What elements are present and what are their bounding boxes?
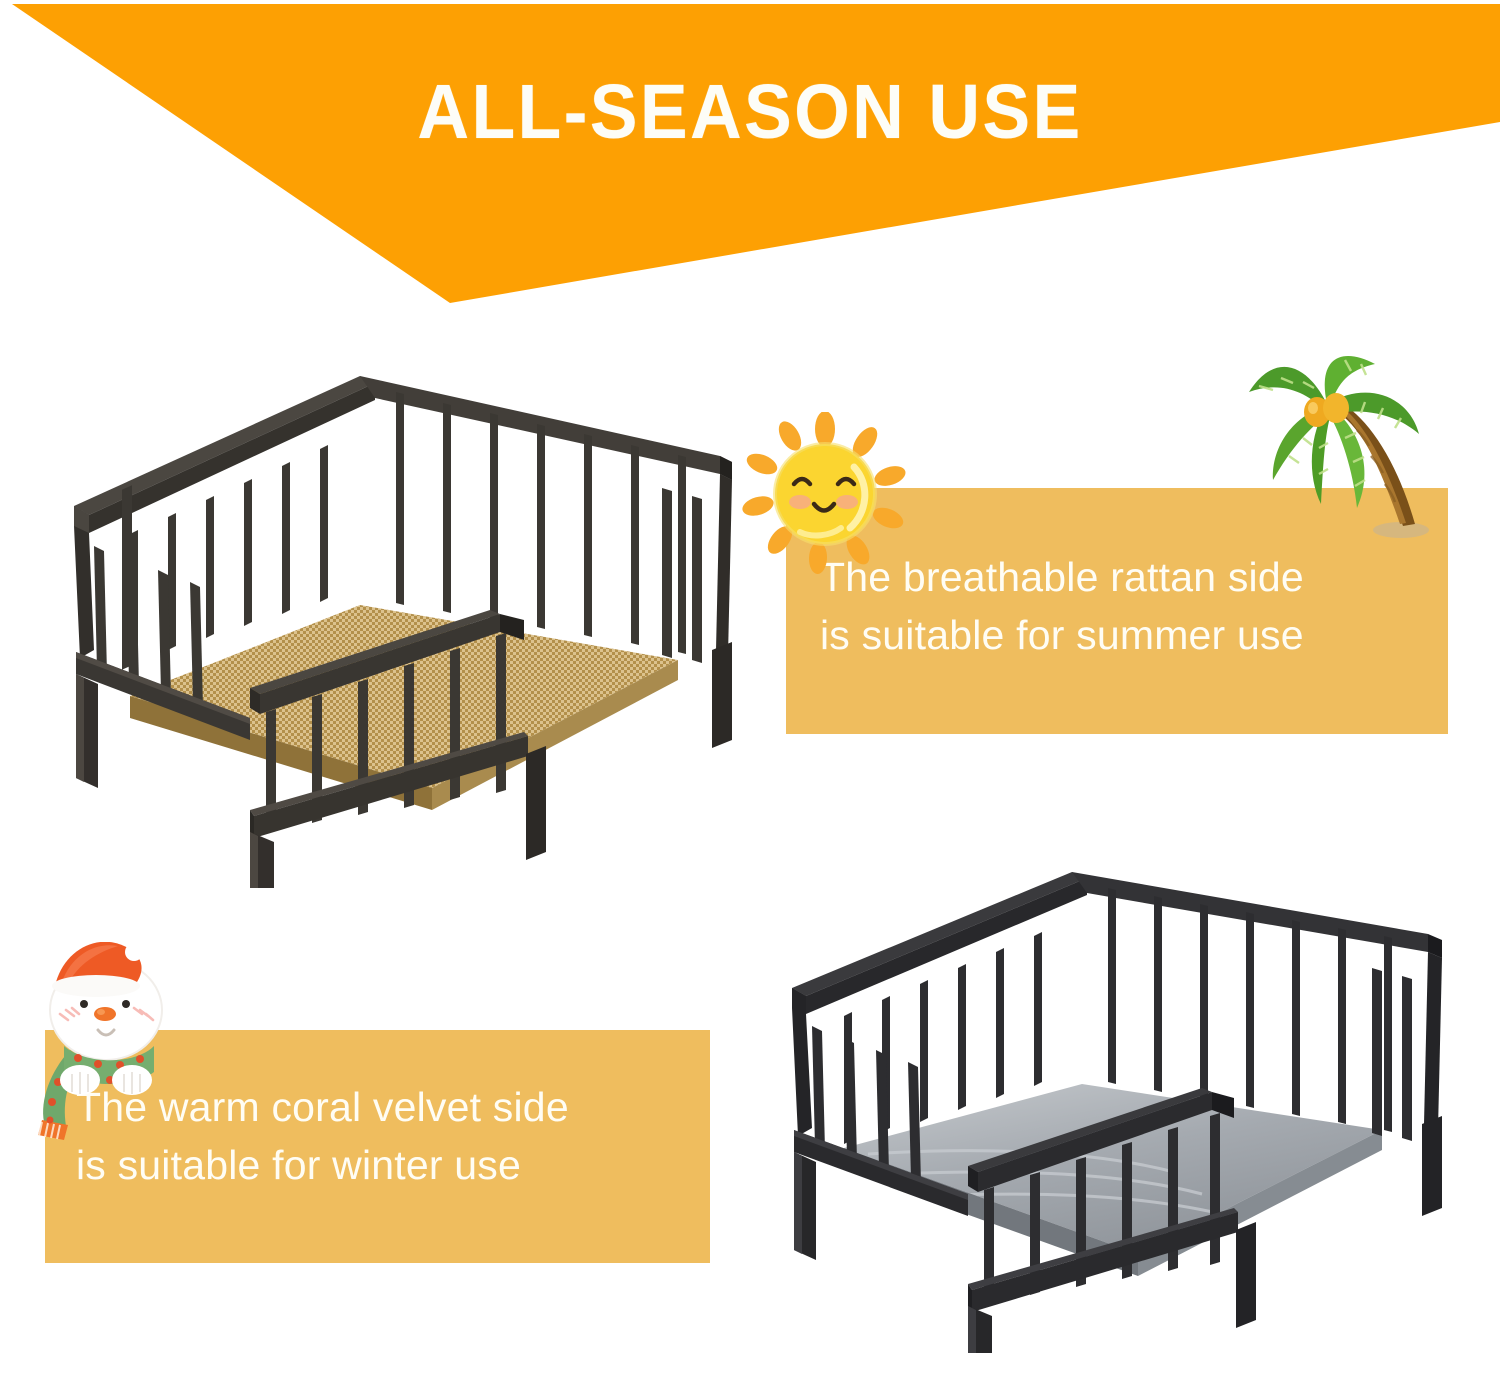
rattan-bed-illustration (60, 358, 750, 888)
sun-icon (742, 412, 908, 574)
callout-summer-text: The breathable rattan side is suitable f… (820, 548, 1440, 664)
palm-tree-icon (1233, 352, 1433, 544)
product-image-velvet-bed (782, 848, 1482, 1353)
banner-shape (0, 0, 1500, 320)
snowman-icon (22, 942, 187, 1147)
infographic-canvas: ALL-SEASON USE (0, 0, 1500, 1388)
product-image-rattan-bed (60, 358, 750, 888)
page-title: ALL-SEASON USE (53, 74, 1448, 151)
velvet-bed-illustration (782, 848, 1482, 1353)
header-banner: ALL-SEASON USE (0, 0, 1500, 320)
